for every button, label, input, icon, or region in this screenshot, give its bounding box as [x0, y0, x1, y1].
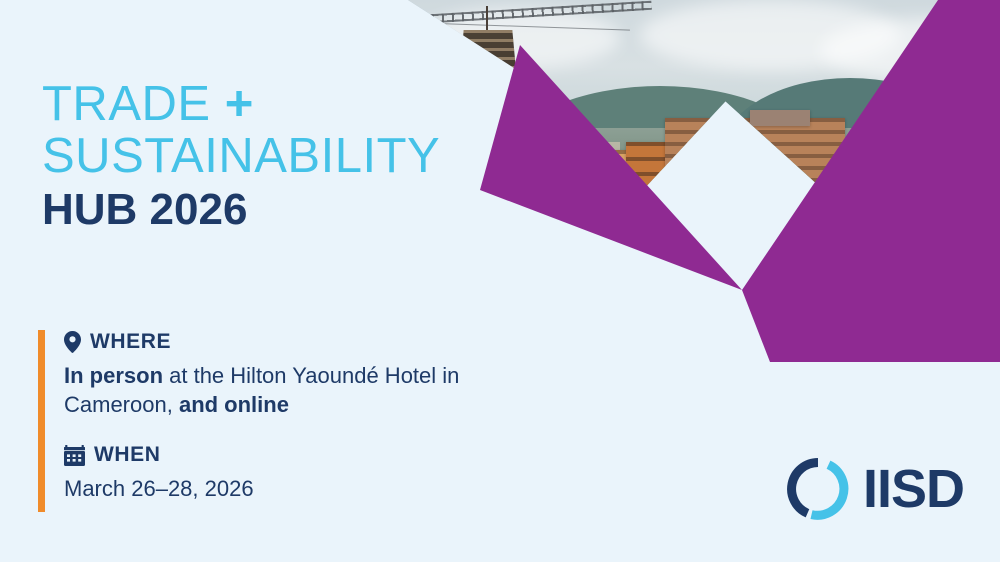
- building-block: [684, 152, 702, 192]
- car: [804, 306, 815, 312]
- flagpole: [794, 278, 796, 334]
- where-label-text: WHERE: [90, 330, 171, 354]
- headline-block: TRADE + SUSTAINABILITY HUB 2026: [42, 78, 512, 238]
- calendar-icon: [64, 445, 85, 466]
- roof-band: [434, 244, 658, 262]
- where-value-text: In person at the Hilton Yaoundé Hotel in…: [64, 361, 558, 419]
- tree: [690, 268, 720, 294]
- tree: [742, 288, 786, 328]
- when-value-text: March 26–28, 2026: [64, 474, 558, 503]
- tree: [586, 322, 624, 358]
- car: [752, 304, 763, 310]
- pavilion-wall: [816, 340, 860, 352]
- event-details-block: WHERE In person at the Hilton Yaoundé Ho…: [38, 330, 558, 503]
- map-pin-icon: [64, 331, 81, 353]
- road-path: [690, 226, 890, 256]
- tree: [710, 250, 744, 280]
- building-windows: [665, 118, 845, 182]
- iisd-logo-text: IISD: [863, 462, 964, 516]
- diamond-facade-pattern: [508, 176, 556, 226]
- roof-structure: [750, 110, 810, 126]
- tree: [918, 172, 970, 206]
- where-bold-in-person: In person: [64, 363, 163, 388]
- when-label-text: WHEN: [94, 443, 161, 467]
- distant-building: [570, 148, 590, 155]
- plaza-terrace: [390, 236, 510, 268]
- tree: [648, 296, 688, 332]
- iisd-logo[interactable]: IISD: [787, 458, 964, 520]
- car: [836, 316, 847, 322]
- flag: [788, 280, 800, 296]
- tree: [776, 300, 808, 328]
- tree: [618, 310, 664, 354]
- car: [820, 312, 831, 318]
- headline-line-1: TRADE +: [42, 78, 512, 130]
- chevron-facade-pattern: [742, 188, 882, 330]
- car: [706, 292, 717, 298]
- tree: [956, 206, 1000, 246]
- tree: [890, 300, 938, 344]
- tree: [736, 262, 762, 286]
- tree: [390, 268, 426, 300]
- event-promo-banner: TRADE + SUSTAINABILITY HUB 2026 WHERE In…: [0, 0, 1000, 562]
- pavilion-roof: [810, 326, 866, 348]
- car: [736, 300, 747, 306]
- where-label-row: WHERE: [64, 330, 558, 354]
- distant-building: [910, 144, 927, 153]
- tree: [936, 268, 978, 306]
- garden-oval: [404, 238, 474, 260]
- details-spacer: [64, 419, 558, 443]
- distant-building: [690, 145, 716, 153]
- distant-building: [842, 150, 866, 157]
- iisd-ring-icon: [787, 458, 849, 520]
- headline-line-2: SUSTAINABILITY: [42, 130, 512, 182]
- orange-accent-bar: [38, 330, 45, 512]
- headline-trade-text: TRADE: [42, 77, 211, 131]
- where-bold-and-online: and online: [179, 392, 289, 417]
- tree: [856, 236, 896, 270]
- headline-line-3: HUB 2026: [42, 182, 512, 238]
- headline-plus-symbol: +: [225, 77, 254, 131]
- building-windows: [540, 150, 710, 236]
- road-path: [721, 284, 930, 327]
- when-label-row: WHEN: [64, 443, 558, 467]
- car: [720, 296, 731, 302]
